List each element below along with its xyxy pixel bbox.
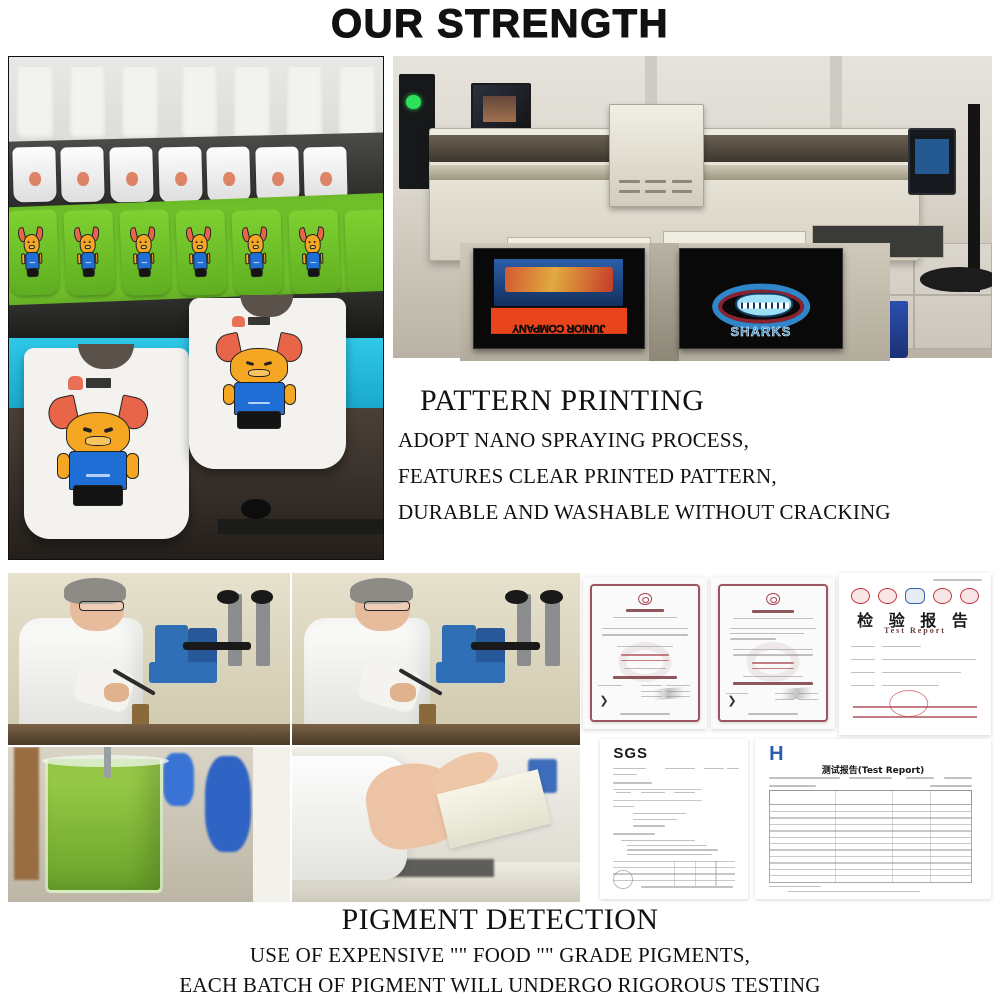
green-platen xyxy=(344,209,384,296)
lab-bench xyxy=(8,724,290,745)
sgs-test-report: SGS xyxy=(600,739,748,899)
bull-mascot-icon xyxy=(217,332,302,431)
lab-bench xyxy=(292,724,580,745)
blue-equipment-blur xyxy=(205,756,250,852)
report-title-en: Test Report xyxy=(839,626,991,635)
lab-stand xyxy=(545,594,559,666)
pattern-printing-heading: PATTERN PRINTING xyxy=(398,380,998,422)
pigment-detection-line-2: EACH BATCH OF PIGMENT WILL UNDERGO RIGOR… xyxy=(0,970,1000,1000)
eyeglasses-icon xyxy=(364,601,410,611)
pigment-detection-heading: PIGMENT DETECTION xyxy=(0,900,1000,940)
blue-lab-machine xyxy=(149,662,217,683)
pattern-printing-line-2: FEATURES CLEAR PRINTED PATTERN, xyxy=(398,458,998,494)
sgs-stamp-icon xyxy=(613,870,632,889)
pattern-printing-line-3: DURABLE AND WASHABLE WITHOUT CRACKING xyxy=(398,494,998,530)
h-report-title: 测试报告(Test Report) xyxy=(755,763,991,776)
bull-mascot-icon xyxy=(187,225,213,279)
lab-stand xyxy=(228,594,242,666)
printer-control-panel[interactable] xyxy=(908,128,956,194)
lab-knob xyxy=(251,590,274,604)
signature xyxy=(651,687,688,700)
cma-logo-icon xyxy=(878,588,897,604)
hanging-shirt xyxy=(286,67,323,142)
lab-technician-photo-b xyxy=(292,573,580,745)
bull-mascot-icon xyxy=(50,394,145,508)
lab-stand xyxy=(517,594,531,666)
certification-logos xyxy=(851,588,979,604)
official-seal-icon xyxy=(638,593,652,605)
official-seal-icon xyxy=(766,593,780,605)
junior-company-text: JUNIOR COMPANY xyxy=(491,308,627,334)
hanging-shirt xyxy=(16,67,53,142)
lab-technician-photo-a xyxy=(8,573,290,745)
lab-knob xyxy=(540,590,563,604)
lab-knob xyxy=(217,590,240,604)
sgs-logo: SGS xyxy=(613,745,648,762)
green-platen xyxy=(8,209,59,296)
certificates-and-reports-group: ❯ xyxy=(583,573,995,903)
printed-white-shirt xyxy=(24,348,189,539)
brand-logo-print xyxy=(232,315,270,329)
green-platen xyxy=(288,209,340,296)
stool-base xyxy=(920,267,992,291)
h-brand-logo: H xyxy=(769,744,800,762)
stirring-rod xyxy=(104,747,111,778)
certificate-right: ❯ xyxy=(711,577,835,729)
signature xyxy=(779,687,816,700)
quality-mark-icon: ❯ xyxy=(727,696,734,705)
blue-lab-machine xyxy=(436,662,505,683)
bull-mascot-icon xyxy=(299,225,325,279)
hanging-shirt xyxy=(69,67,106,142)
hanging-shirt xyxy=(181,67,218,142)
technician-hand xyxy=(390,683,416,702)
eyeglasses-icon xyxy=(79,601,124,611)
glass-beaker xyxy=(45,759,163,892)
sharks-text: SHARKS xyxy=(690,324,832,346)
brand-logo-print xyxy=(68,375,111,392)
white-shirt-platen xyxy=(255,147,299,203)
bull-mascot-icon xyxy=(243,225,269,279)
bull-mascot-icon xyxy=(75,225,101,279)
red-company-stamp-icon xyxy=(889,690,929,718)
bull-mascot-icon xyxy=(131,225,157,279)
green-platen xyxy=(63,209,115,296)
black-shirt-sharks: SHARKS xyxy=(679,248,842,349)
lab-tubing xyxy=(471,642,540,651)
bull-mascot-icon xyxy=(19,225,45,279)
screen-printing-carousel-photo xyxy=(8,56,384,560)
cnas-logo-icon xyxy=(905,588,924,604)
platen-gap xyxy=(649,243,679,361)
inspection-test-report: 检 验 报 告 Test Report xyxy=(839,573,991,735)
certificate-left: ❯ xyxy=(583,577,707,729)
lab-knob xyxy=(505,590,528,604)
junior-company-artwork xyxy=(494,259,623,307)
cal-logo-icon xyxy=(933,588,952,604)
machine-rail xyxy=(218,519,383,534)
hanging-shirt xyxy=(233,67,270,142)
green-platen xyxy=(232,209,284,296)
hanging-shirt xyxy=(338,67,375,142)
printed-white-shirt xyxy=(189,298,346,469)
fabric-sample-photo xyxy=(292,747,580,902)
green-pigment-beaker-photo xyxy=(8,747,290,902)
hanging-shirt xyxy=(121,67,158,142)
floor-tile xyxy=(914,295,992,349)
page-title: OUR STRENGTH xyxy=(0,2,1000,46)
ilac-logo-icon xyxy=(960,588,979,604)
white-shirt-platen xyxy=(109,147,153,203)
black-shirt-junior-company: JUNIOR COMPANY xyxy=(473,248,645,349)
white-shirt-platen xyxy=(61,147,105,203)
pattern-printing-text-block: PATTERN PRINTING ADOPT NANO SPRAYING PRO… xyxy=(398,380,998,530)
equipment-stand xyxy=(968,104,980,291)
white-panel xyxy=(253,747,290,902)
h-test-report: H 测试报告(Test Report) xyxy=(755,739,991,899)
pigment-detection-text-block: PIGMENT DETECTION USE OF EXPENSIVE "" FO… xyxy=(0,900,1000,1000)
machine-knob xyxy=(241,499,271,519)
ccc-logo-icon xyxy=(851,588,870,604)
printed-black-shirts-photo: JUNIOR COMPANY SHARKS xyxy=(460,243,890,361)
pigment-detection-line-1: USE OF EXPENSIVE "" FOOD "" GRADE PIGMEN… xyxy=(0,940,1000,970)
white-shirt-platen xyxy=(12,147,56,203)
print-head-carriage xyxy=(609,104,705,207)
power-led-icon xyxy=(406,95,420,109)
white-shirt-platen xyxy=(158,147,202,203)
technician-hand xyxy=(104,683,129,702)
lab-stand xyxy=(256,594,270,666)
green-platen xyxy=(120,209,172,296)
green-platen xyxy=(176,209,228,296)
lab-tubing xyxy=(183,642,251,651)
marketing-page: OUR STRENGTH xyxy=(0,0,1000,1000)
wall-panel xyxy=(14,747,39,880)
quality-mark-icon: ❯ xyxy=(599,696,606,705)
white-shirt-platen xyxy=(207,147,251,203)
pattern-printing-line-1: ADOPT NANO SPRAYING PROCESS, xyxy=(398,422,998,458)
shark-artwork xyxy=(703,259,819,335)
